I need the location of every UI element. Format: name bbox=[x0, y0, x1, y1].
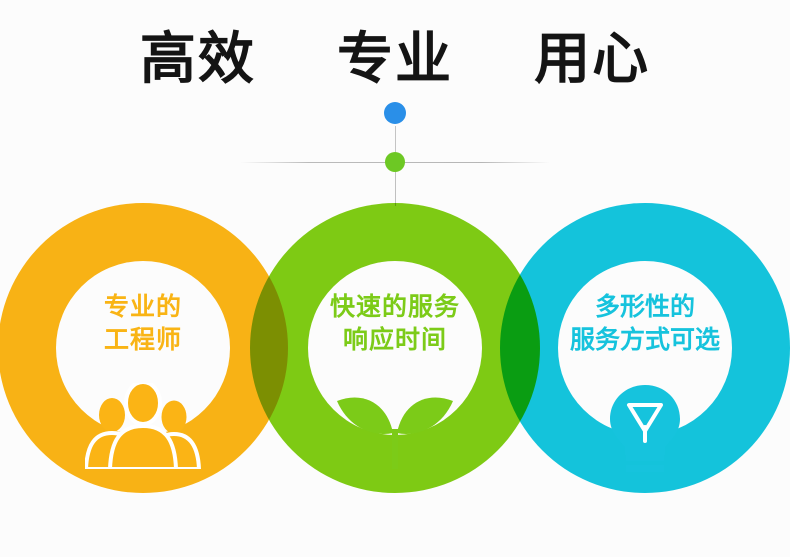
blue-dot-icon bbox=[384, 102, 406, 124]
infographic-stage: 高效 专业 用心 专业的 工程师 bbox=[0, 0, 790, 557]
headline-segment-3: 用心 bbox=[534, 28, 650, 90]
ring-flexible-service-modes[interactable] bbox=[500, 203, 790, 493]
ring-professional-engineers[interactable] bbox=[0, 203, 288, 493]
headline-segment-2: 专业 bbox=[337, 28, 453, 90]
green-dot-icon bbox=[385, 152, 405, 172]
vertical-connector-bottom bbox=[395, 166, 396, 206]
ring-fast-service-response[interactable] bbox=[250, 203, 540, 493]
headline-segment-1: 高效 bbox=[140, 28, 256, 90]
page-title: 高效 专业 用心 bbox=[0, 28, 790, 90]
